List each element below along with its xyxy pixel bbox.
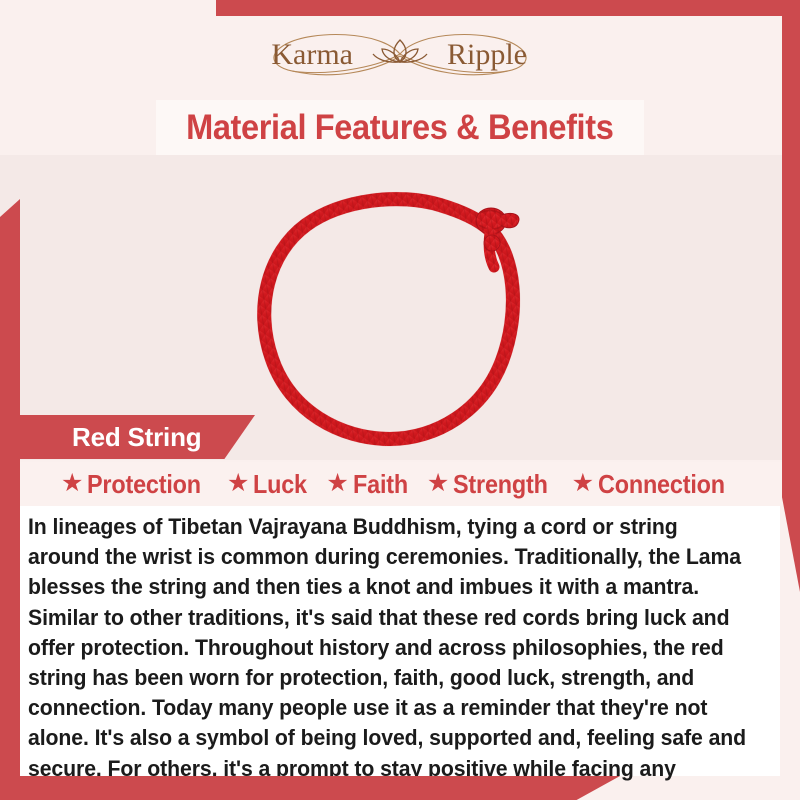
benefit-item-protection: ★ Protection — [56, 469, 219, 500]
infographic-page: Karma Ripple — [0, 0, 800, 800]
title-banner: Material Features & Benefits — [156, 100, 644, 155]
page-title: Material Features & Benefits — [186, 108, 613, 148]
benefits-row: ★ Protection ★ Luck ★ Faith ★ Strength ★… — [0, 462, 800, 506]
benefit-label: Strength — [453, 469, 548, 500]
star-icon: ★ — [227, 471, 249, 496]
benefit-item-strength: ★ Strength — [422, 469, 564, 500]
brand-name-left: Karma — [271, 38, 353, 71]
benefit-label: Luck — [253, 469, 307, 500]
lotus-flourish-icon: Karma Ripple — [240, 26, 560, 82]
benefit-item-luck: ★ Luck — [222, 469, 318, 500]
star-icon: ★ — [427, 471, 449, 496]
frame-accent-top — [216, 0, 800, 16]
brand-name-right: Ripple — [447, 38, 527, 71]
star-icon: ★ — [572, 471, 594, 496]
product-label-text: Red String — [0, 422, 201, 453]
benefit-label: Protection — [87, 469, 201, 500]
description-text: In lineages of Tibetan Vajrayana Buddhis… — [28, 512, 753, 800]
star-icon: ★ — [326, 471, 348, 496]
hero-image-band — [0, 155, 800, 460]
benefit-item-connection: ★ Connection — [567, 469, 744, 500]
star-icon: ★ — [61, 471, 83, 496]
frame-accent-bottom — [0, 776, 620, 800]
red-string-bracelet-image — [240, 163, 560, 463]
brand-logo: Karma Ripple — [230, 26, 570, 82]
product-label-ribbon: Red String — [0, 415, 255, 459]
frame-accent-left — [0, 199, 20, 800]
benefit-label: Faith — [353, 469, 408, 500]
benefit-label: Connection — [598, 469, 725, 500]
benefit-item-faith: ★ Faith — [321, 469, 419, 500]
description-card: In lineages of Tibetan Vajrayana Buddhis… — [20, 506, 780, 776]
frame-accent-right — [782, 0, 800, 592]
